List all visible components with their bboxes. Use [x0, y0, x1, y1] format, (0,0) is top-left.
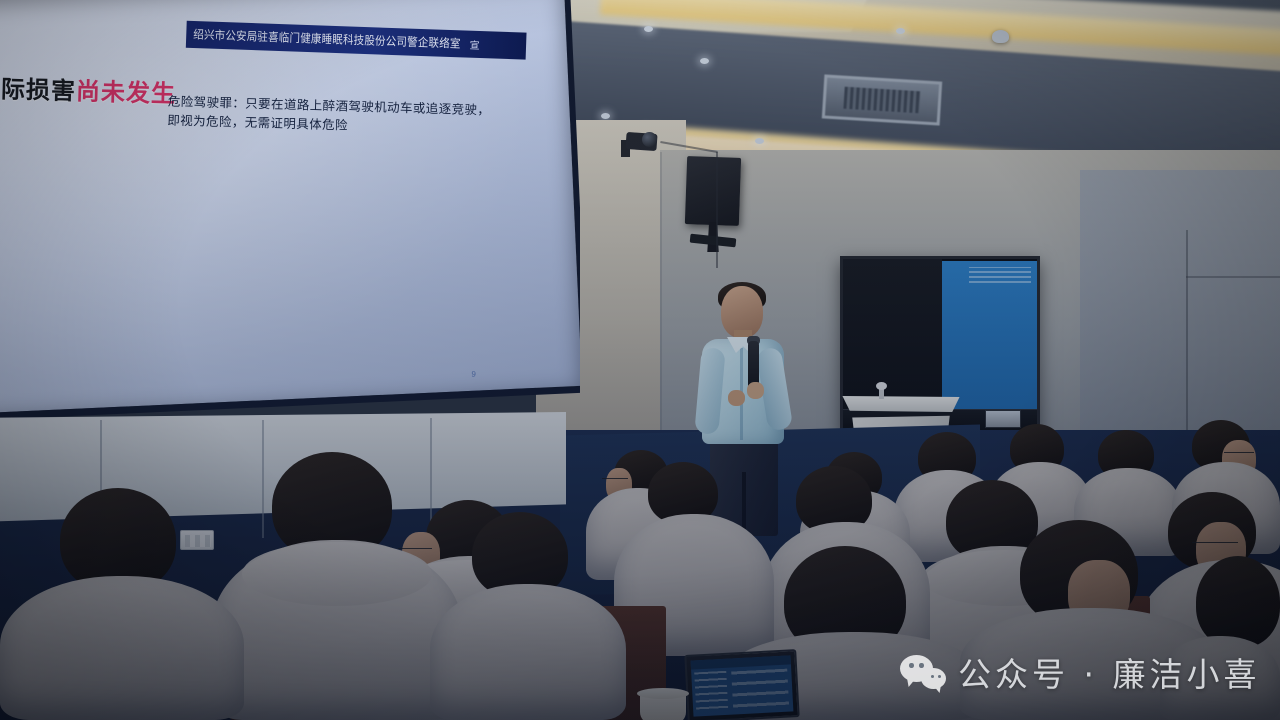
projection-screen: 绍兴市公安局驻喜临门健康睡眠科技股份公司警企联络室 宣 即使实际损害尚未发生 危…: [0, 0, 580, 422]
slide-banner-suffix: 宣: [469, 37, 480, 52]
wechat-eye: [919, 663, 924, 668]
wechat-icon: [900, 655, 946, 689]
monitor-reflected-laptop: [985, 410, 1021, 428]
wechat-eye: [909, 663, 914, 668]
photo-scene: 绍兴市公安局驻喜临门健康睡眠科技股份公司警企联络室 宣 即使实际损害尚未发生 危…: [0, 0, 1280, 720]
projection-screen-area: 绍兴市公安局驻喜临门健康睡眠科技股份公司警企联络室 宣 即使实际损害尚未发生 危…: [0, 0, 580, 460]
monitor-blue-half: [942, 261, 1037, 409]
audience-hoodie: [430, 584, 626, 720]
podium-top: [840, 396, 962, 412]
watermark-text: 公众号 · 廉洁小喜: [958, 648, 1260, 696]
wall-socket[interactable]: [180, 530, 214, 550]
wechat-eye: [931, 675, 935, 679]
security-camera-icon: [642, 132, 657, 147]
laptop-titlebar: [691, 655, 791, 669]
downlight: [755, 138, 764, 144]
paper-cup-rim: [637, 688, 689, 699]
watermark: 公众号 · 廉洁小喜: [900, 648, 1260, 696]
audience-hoodie: [0, 576, 244, 720]
wall-panel-seam: [660, 152, 662, 452]
downlight: [700, 58, 709, 64]
wall-panel-seam: [1186, 276, 1280, 278]
laptop-sidebar: [694, 671, 728, 714]
laptop[interactable]: [684, 649, 799, 720]
downlight: [644, 26, 653, 32]
downlight: [601, 113, 610, 119]
slide-page-number: 9: [471, 370, 476, 379]
slide-banner-text: 绍兴市公安局驻喜临门健康睡眠科技股份公司警企联络室: [193, 26, 461, 52]
base-panel-seam: [262, 420, 264, 538]
downlight: [896, 28, 905, 34]
eyeglasses-icon: [1192, 542, 1238, 547]
slide-headline-highlight: 尚未发生: [76, 77, 177, 108]
monitor-text-hint: [969, 267, 1031, 283]
screen-color-cast: [0, 0, 580, 415]
wall-speaker: [685, 156, 741, 226]
slide-headline-plain: 即使实际损害: [0, 73, 76, 105]
cable: [716, 152, 718, 268]
laptop-screen: [691, 655, 794, 716]
presenter-hand-right: [747, 382, 764, 399]
ac-vent: [822, 74, 942, 125]
ceiling-dome-camera-icon: [992, 30, 1009, 43]
slide-headline: 即使实际损害尚未发生: [0, 67, 176, 109]
audience-head: [1196, 556, 1280, 648]
wechat-bubble-small: [921, 668, 946, 689]
wechat-eye: [938, 675, 942, 679]
presenter-hand-left: [728, 390, 745, 406]
audience-hood: [242, 542, 432, 606]
laptop-file-list: [731, 669, 789, 711]
eyeglasses-icon: [1224, 452, 1254, 457]
monitor-dark-half: [843, 259, 942, 410]
podium-mic-head: [876, 382, 887, 390]
eyeglasses-icon: [602, 478, 628, 483]
